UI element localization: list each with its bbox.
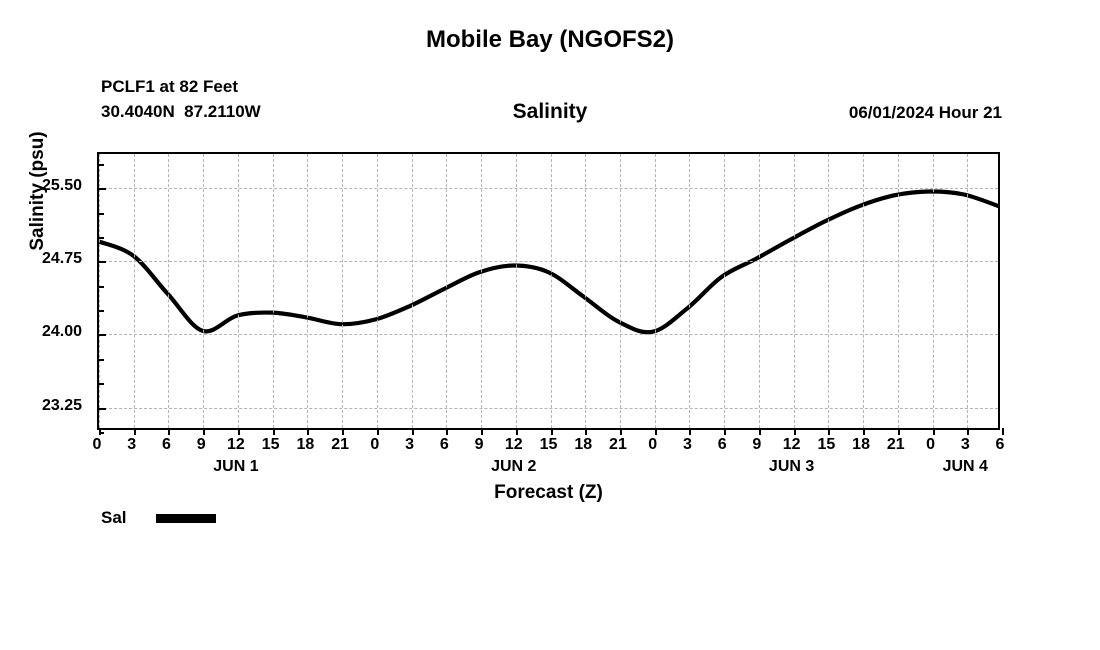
gridline-vertical: [933, 154, 934, 428]
gridline-vertical: [134, 154, 135, 428]
gridline-vertical: [168, 154, 169, 428]
gridline-vertical: [898, 154, 899, 428]
gridline-vertical: [967, 154, 968, 428]
x-axis-tick: [1002, 428, 1004, 435]
gridline-vertical: [307, 154, 308, 428]
x-axis-tick: [481, 428, 483, 435]
x-axis-tick: [446, 428, 448, 435]
gridline-vertical: [238, 154, 239, 428]
x-axis-tick: [655, 428, 657, 435]
x-axis-tick: [585, 428, 587, 435]
x-axis-tick-label: 0: [93, 436, 102, 454]
legend-swatch-sal: [156, 514, 216, 523]
x-axis-tick-label: 6: [440, 436, 449, 454]
y-axis-tick-label: 24.75: [42, 250, 82, 268]
x-axis-tick: [863, 428, 865, 435]
gridline-vertical: [273, 154, 274, 428]
x-axis-day-label: JUN 1: [213, 458, 258, 476]
y-axis-tick-minor: [99, 383, 104, 385]
gridline-vertical: [551, 154, 552, 428]
gridline-vertical: [481, 154, 482, 428]
x-axis-tick-label: 3: [961, 436, 970, 454]
x-axis-tick-label: 21: [331, 436, 349, 454]
x-axis-tick-label: 0: [926, 436, 935, 454]
x-axis-tick-label: 18: [574, 436, 592, 454]
gridline-vertical: [585, 154, 586, 428]
x-axis-tick: [203, 428, 205, 435]
gridline-vertical: [446, 154, 447, 428]
x-axis-tick: [134, 428, 136, 435]
x-axis-day-label: JUN 3: [769, 458, 814, 476]
x-axis-tick-label: 15: [540, 436, 558, 454]
legend-label-sal: Sal: [101, 508, 156, 528]
x-axis-tick: [516, 428, 518, 435]
x-axis-tick-labels: 036912151821036912151821036912151821036: [97, 436, 1000, 458]
x-axis-tick: [377, 428, 379, 435]
x-axis-tick: [238, 428, 240, 435]
x-axis-tick-label: 12: [227, 436, 245, 454]
gridline-horizontal: [99, 334, 998, 335]
x-axis-tick: [412, 428, 414, 435]
x-axis-tick: [342, 428, 344, 435]
gridline-vertical: [655, 154, 656, 428]
x-axis-tick: [307, 428, 309, 435]
y-axis-tick-major: [99, 188, 106, 190]
x-axis-tick: [620, 428, 622, 435]
x-axis-tick-label: 18: [852, 436, 870, 454]
plot-grid-layer: [99, 154, 998, 428]
y-axis-tick-major: [99, 261, 106, 263]
gridline-vertical: [99, 154, 100, 428]
gridline-vertical: [203, 154, 204, 428]
gridline-vertical: [689, 154, 690, 428]
y-axis-tick-major: [99, 334, 106, 336]
gridline-vertical: [620, 154, 621, 428]
x-axis-day-label: JUN 2: [491, 458, 536, 476]
x-axis-tick: [724, 428, 726, 435]
chart-page: Mobile Bay (NGOFS2) PCLF1 at 82 Feet 30.…: [0, 0, 1100, 650]
plot-area: [97, 152, 1000, 430]
x-axis-tick: [551, 428, 553, 435]
gridline-vertical: [828, 154, 829, 428]
y-axis-tick-minor: [99, 164, 104, 166]
y-axis-tick-minor: [99, 286, 104, 288]
x-axis-tick: [933, 428, 935, 435]
x-axis-tick-label: 12: [505, 436, 523, 454]
gridline-vertical: [516, 154, 517, 428]
x-axis-tick-label: 6: [162, 436, 171, 454]
x-axis-tick: [828, 428, 830, 435]
page-title: Mobile Bay (NGOFS2): [0, 26, 1100, 54]
x-axis-tick-label: 3: [683, 436, 692, 454]
gridline-horizontal: [99, 261, 998, 262]
y-axis-tick-minor: [99, 213, 104, 215]
gridline-horizontal: [99, 408, 998, 409]
x-axis-tick-label: 9: [197, 436, 206, 454]
gridline-vertical: [342, 154, 343, 428]
x-axis-tick: [168, 428, 170, 435]
x-axis-tick-label: 9: [475, 436, 484, 454]
x-axis-tick-label: 6: [718, 436, 727, 454]
x-axis-title: Forecast (Z): [97, 482, 1000, 504]
y-axis-tick-minor: [99, 310, 104, 312]
gridline-vertical: [724, 154, 725, 428]
y-axis-tick-label: 23.25: [42, 397, 82, 415]
y-axis-tick-major: [99, 408, 106, 410]
x-axis-tick-label: 21: [887, 436, 905, 454]
x-axis-tick: [759, 428, 761, 435]
x-axis-tick-label: 12: [783, 436, 801, 454]
legend: Sal: [101, 508, 216, 528]
x-axis-tick-label: 0: [370, 436, 379, 454]
y-axis-tick-label: 24.00: [42, 323, 82, 341]
gridline-vertical: [863, 154, 864, 428]
gridline-horizontal: [99, 188, 998, 189]
y-axis-tick-labels: 23.2524.0024.7525.50: [0, 152, 90, 430]
gridline-vertical: [412, 154, 413, 428]
forecast-run-time: 06/01/2024 Hour 21: [849, 103, 1002, 123]
x-axis-tick: [794, 428, 796, 435]
x-axis-tick-label: 21: [609, 436, 627, 454]
x-axis-day-label: JUN 4: [943, 458, 988, 476]
x-axis-tick: [273, 428, 275, 435]
x-axis-tick-label: 0: [648, 436, 657, 454]
x-axis-tick-label: 15: [817, 436, 835, 454]
x-axis-day-labels: JUN 1JUN 2JUN 3JUN 4: [97, 458, 1000, 480]
y-axis-tick-minor: [99, 359, 104, 361]
x-axis-tick: [967, 428, 969, 435]
station-name: PCLF1 at 82 Feet: [101, 74, 261, 99]
x-axis-tick-label: 18: [296, 436, 314, 454]
y-axis-tick-minor: [99, 432, 104, 434]
x-axis-tick-label: 6: [996, 436, 1005, 454]
x-axis-tick: [898, 428, 900, 435]
gridline-vertical: [377, 154, 378, 428]
x-axis-tick: [689, 428, 691, 435]
x-axis-tick-label: 9: [752, 436, 761, 454]
x-axis-tick-label: 3: [127, 436, 136, 454]
y-axis-tick-minor: [99, 237, 104, 239]
y-axis-tick-label: 25.50: [42, 177, 82, 195]
x-axis-tick-label: 3: [405, 436, 414, 454]
gridline-vertical: [794, 154, 795, 428]
gridline-vertical: [759, 154, 760, 428]
x-axis-tick-label: 15: [262, 436, 280, 454]
